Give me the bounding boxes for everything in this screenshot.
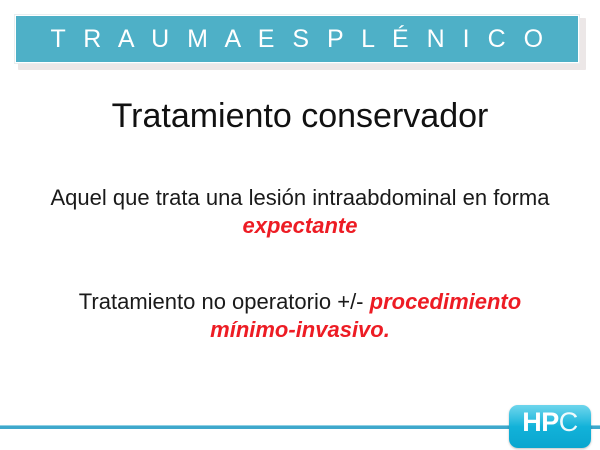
- header-title: T R A U M A E S P L É N I C O: [45, 27, 548, 52]
- hpc-logo-letters-bold: HP: [522, 407, 559, 437]
- paragraph-2-emphasis-2: mínimo-invasivo: [210, 317, 384, 342]
- header-banner-frame: T R A U M A E S P L É N I C O: [14, 14, 580, 64]
- paragraph-2-line-1: Tratamiento no operatorio +/-: [79, 289, 370, 314]
- slide: T R A U M A E S P L É N I C O Tratamient…: [0, 0, 600, 450]
- paragraph-2-emphasis-1: procedimiento: [370, 289, 522, 314]
- hpc-logo-letter-light: C: [559, 407, 578, 437]
- paragraph-2-period: .: [384, 317, 390, 342]
- hpc-logo: HPC: [509, 398, 591, 448]
- paragraph-1-emphasis: expectante: [243, 213, 358, 238]
- hpc-logo-wordmark: HPC: [509, 409, 591, 436]
- header-banner-fill: T R A U M A E S P L É N I C O: [16, 16, 578, 62]
- body-paragraph-1: Aquel que trata una lesión intraabdomina…: [0, 184, 600, 239]
- paragraph-1-line-1: Aquel que trata una lesión intraabdomina…: [51, 185, 550, 210]
- body-paragraph-2: Tratamiento no operatorio +/- procedimie…: [0, 288, 600, 343]
- page-title: Tratamiento conservador: [0, 98, 600, 135]
- header-banner: T R A U M A E S P L É N I C O: [14, 14, 586, 70]
